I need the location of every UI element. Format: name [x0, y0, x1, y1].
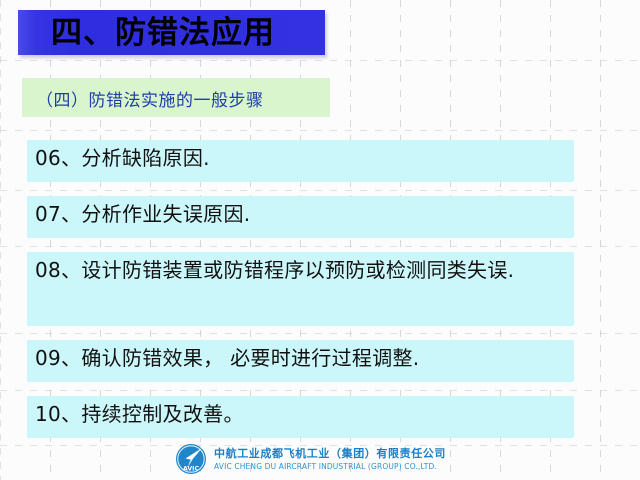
list-item-label: 07、分析作业失误原因. [35, 200, 570, 229]
grid-hline [0, 190, 640, 191]
avic-logo-icon: AVIC [175, 443, 207, 475]
list-item-label: 09、确认防错效果， 必要时进行过程调整. [35, 344, 570, 373]
grid-hline [0, 333, 640, 334]
page-title: 四、防错法应用 [51, 16, 275, 50]
grid-hline [0, 60, 640, 61]
slide-subtitle-banner: （四）防错法实施的一般步骤 [22, 78, 330, 117]
list-item-label: 10、持续控制及改善。 [35, 400, 570, 429]
list-item-label: 08、设计防错装置或防错程序以预防或检测同类失误. [35, 256, 570, 285]
footer-branding: AVIC 中航工业成都飞机工业（集团）有限责任公司 AVIC CHENG DU … [175, 443, 446, 475]
list-item: 06、分析缺陷原因. [27, 140, 574, 182]
list-item: 08、设计防错装置或防错程序以预防或检测同类失误. [27, 252, 574, 326]
grid-hline [0, 130, 640, 131]
grid-hline [0, 246, 640, 247]
slide-title-banner: 四、防错法应用 [18, 10, 325, 55]
footer-company-cn: 中航工业成都飞机工业（集团）有限责任公司 [214, 447, 446, 461]
subtitle-label: （四）防错法实施的一般步骤 [36, 86, 264, 111]
list-item: 09、确认防错效果， 必要时进行过程调整. [27, 340, 574, 382]
grid-hline [0, 390, 640, 391]
grid-vline [600, 0, 601, 480]
list-item: 10、持续控制及改善。 [27, 396, 574, 438]
list-item: 07、分析作业失误原因. [27, 196, 574, 238]
slide-canvas: 四、防错法应用 （四）防错法实施的一般步骤 06、分析缺陷原因. 07、分析作业… [0, 0, 640, 480]
avic-logo-abbr: AVIC [183, 465, 199, 472]
footer-company-block: 中航工业成都飞机工业（集团）有限责任公司 AVIC CHENG DU AIRCR… [214, 447, 446, 472]
list-item-label: 06、分析缺陷原因. [35, 144, 570, 173]
footer-company-en: AVIC CHENG DU AIRCRAFT INDUSTRIAL (GROUP… [214, 461, 446, 472]
